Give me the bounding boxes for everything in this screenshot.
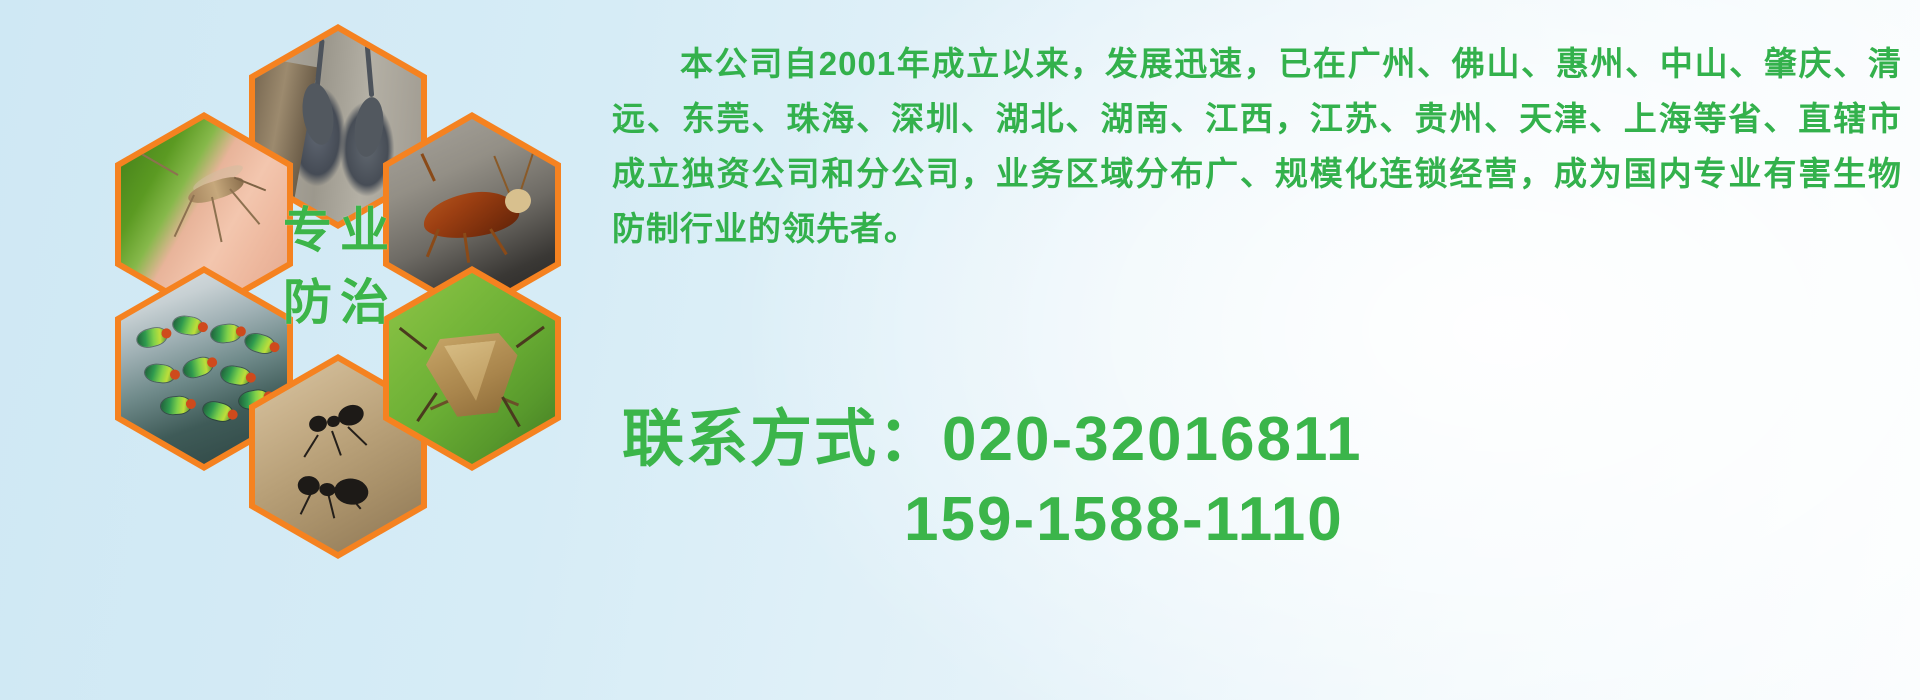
slogan-line-2: 防治 xyxy=(260,268,420,340)
company-description: 本公司自2001年成立以来，发展迅速，已在广州、佛山、惠州、中山、肇庆、清远、东… xyxy=(612,36,1902,256)
contact-block: 联系方式：020-32016811 159-1588-1110 xyxy=(622,400,1822,560)
slogan-line-1: 专业 xyxy=(260,196,420,268)
contact-secondary-line[interactable]: 159-1588-1110 xyxy=(622,480,1822,560)
honeycomb-image-cluster: 专业 防治 xyxy=(88,8,588,568)
promo-banner: 专业 防治 本公司自2001年成立以来，发展迅速，已在广州、佛山、惠州、中山、肇… xyxy=(0,0,1920,700)
company-description-text: 本公司自2001年成立以来，发展迅速，已在广州、佛山、惠州、中山、肇庆、清远、东… xyxy=(612,36,1902,256)
honeycomb-slogan: 专业 防治 xyxy=(260,196,420,339)
contact-primary-line[interactable]: 联系方式：020-32016811 xyxy=(622,400,1822,480)
